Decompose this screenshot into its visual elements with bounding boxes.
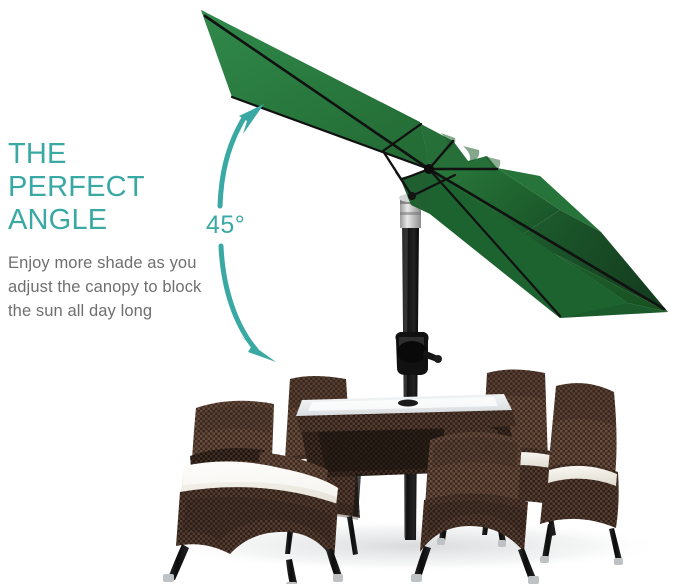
angle-annotation-arrow bbox=[0, 0, 679, 584]
arc-lower bbox=[221, 246, 256, 350]
product-marketing-image: THE PERFECT ANGLE Enjoy more shade as yo… bbox=[0, 0, 679, 584]
arrowhead-down bbox=[241, 337, 276, 362]
arc-upper bbox=[220, 118, 244, 206]
